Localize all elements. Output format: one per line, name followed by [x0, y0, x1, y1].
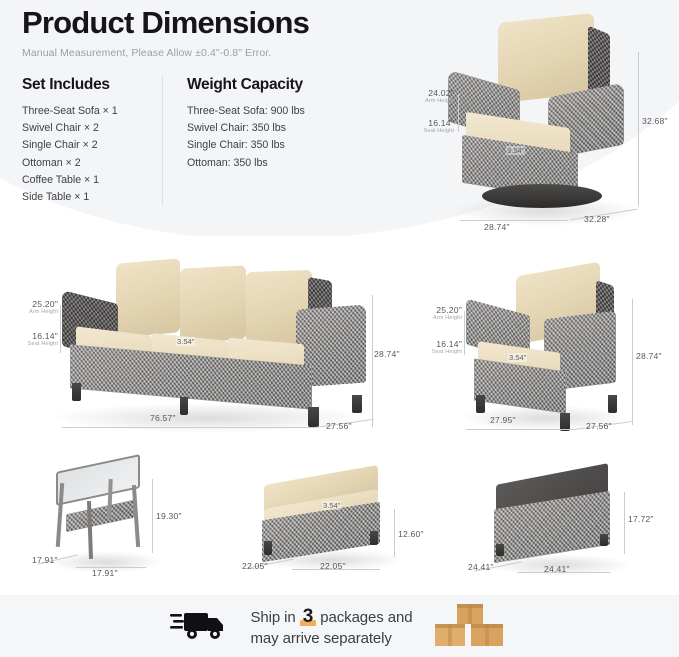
- seat-height-label: Seat Height: [398, 128, 454, 134]
- depth-value: 27.56": [326, 421, 352, 431]
- table-foot: [496, 544, 504, 556]
- arm-height-label: Arm Height: [398, 98, 454, 104]
- overall-height-value: 32.68": [642, 116, 668, 126]
- ship-line1-after: packages and: [320, 609, 412, 626]
- arm-height-value: 24.02": [398, 88, 454, 98]
- seat-height-label: Seat Height: [406, 349, 462, 355]
- seat-height-value: 16.14": [2, 331, 58, 341]
- depth-value: 22.05": [242, 561, 268, 571]
- depth-value: 24.41": [468, 562, 494, 572]
- seat-height-group: 16.14" Seat Height: [406, 339, 462, 355]
- ottoman-leg: [370, 531, 378, 545]
- weight-capacity-item: Single Chair: 350 lbs: [187, 137, 305, 154]
- single-chair-figure: 3.54" 25.20" Arm Height 16.14" Seat Heig…: [420, 255, 679, 441]
- dimension-line: [152, 479, 153, 553]
- lower-shelf: [66, 500, 134, 532]
- table-foot: [600, 534, 608, 546]
- sofa-leg: [72, 383, 81, 401]
- cushion-thickness-label: 3.54": [176, 337, 195, 346]
- overall-height-value: 28.74": [636, 351, 662, 361]
- set-includes-item: Swivel Chair × 2: [22, 120, 162, 137]
- depth-value: 27.56": [586, 421, 612, 431]
- dimension-line: [624, 492, 625, 554]
- seat-height-value: 16.14": [406, 339, 462, 349]
- set-includes-item: Side Table × 1: [22, 189, 162, 206]
- ottoman-figure: 3.54" 12.60" 22.05" 22.05": [238, 465, 448, 585]
- set-includes-item: Ottoman × 2: [22, 155, 162, 172]
- ship-line2: may arrive separately: [250, 629, 412, 649]
- dimension-line: [62, 427, 314, 428]
- dimension-line: [632, 299, 633, 425]
- arm-height-group: 25.20" Arm Height: [2, 299, 58, 315]
- width-value: 22.05": [320, 561, 346, 571]
- width-value: 28.74": [484, 222, 510, 232]
- set-includes-heading: Set Includes: [22, 76, 162, 94]
- delivery-truck-icon: [170, 605, 232, 648]
- swivel-base-disc: [482, 184, 602, 208]
- height-value: 12.60": [398, 529, 424, 539]
- arm-height-group: 24.02" Arm Height: [398, 88, 454, 104]
- swivel-chair-figure: 3.54" 24.02" Arm Height 16.14" Seat Heig…: [420, 8, 679, 236]
- dimension-line: [60, 305, 61, 353]
- weight-capacity-item: Swivel Chair: 350 lbs: [187, 120, 305, 137]
- chair-leg: [608, 395, 617, 413]
- sofa-leg: [308, 407, 319, 427]
- depth-value: 17.91": [32, 555, 58, 565]
- weight-capacity-item: Three-Seat Sofa: 900 lbs: [187, 103, 305, 120]
- width-value: 76.57": [150, 413, 176, 423]
- depth-value: 32.28": [584, 214, 610, 224]
- glass-tabletop: [56, 454, 140, 506]
- dimension-line: [372, 295, 373, 427]
- ship-line1-before: Ship in: [250, 609, 295, 626]
- seat-height-value: 16.14": [398, 118, 454, 128]
- shipping-text: Ship in 3 packages and may arrive separa…: [250, 604, 412, 649]
- dimension-line: [466, 429, 574, 430]
- side-table-figure: 19.30" 17.91" 17.91": [30, 455, 230, 585]
- width-value: 17.91": [92, 568, 118, 578]
- arm-height-label: Arm Height: [406, 315, 462, 321]
- seat-height-label: Seat Height: [2, 341, 58, 347]
- set-includes-item: Coffee Table × 1: [22, 172, 162, 189]
- figure-shadow: [48, 403, 368, 433]
- width-value: 24.41": [544, 564, 570, 574]
- sofa-figure: 3.54" 25.20" Arm Height 16.14" Seat Heig…: [8, 255, 404, 441]
- width-value: 27.95": [490, 415, 516, 425]
- packages-boxes-icon: [431, 600, 509, 653]
- overall-height-value: 28.74": [374, 349, 400, 359]
- arm-height-value: 25.20": [2, 299, 58, 309]
- arm-height-group: 25.20" Arm Height: [406, 305, 462, 321]
- seat-height-group: 16.14" Seat Height: [398, 118, 454, 134]
- height-value: 19.30": [156, 511, 182, 521]
- weight-capacity-heading: Weight Capacity: [187, 76, 305, 94]
- weight-capacity-item: Ottoman: 350 lbs: [187, 155, 305, 172]
- dimension-line: [460, 220, 568, 221]
- dimension-line: [458, 94, 459, 132]
- arm-height-value: 25.20": [406, 305, 462, 315]
- ottoman-leg: [264, 541, 272, 555]
- back-cushion: [180, 265, 246, 342]
- table-leg: [132, 485, 140, 547]
- package-count: 3: [300, 606, 316, 627]
- dimension-line: [638, 52, 639, 206]
- dimension-line: [464, 311, 465, 355]
- set-includes-item: Three-Seat Sofa × 1: [22, 103, 162, 120]
- weight-capacity-column: Weight Capacity Three-Seat Sofa: 900 lbs…: [162, 76, 305, 206]
- cushion-thickness-label: 3.54": [506, 146, 525, 155]
- set-includes-column: Set Includes Three-Seat Sofa × 1 Swivel …: [22, 76, 162, 206]
- arm-height-label: Arm Height: [2, 309, 58, 315]
- cushion-thickness-label: 3.54": [322, 501, 341, 510]
- height-value: 17.72": [628, 514, 654, 524]
- coffee-table-figure: 17.72" 24.41" 24.41": [466, 462, 676, 587]
- cushion-thickness-label: 3.54": [508, 353, 527, 362]
- dimension-line: [394, 509, 395, 557]
- set-includes-item: Single Chair × 2: [22, 137, 162, 154]
- back-cushion: [116, 258, 180, 338]
- sofa-leg: [352, 395, 362, 413]
- sofa-leg: [180, 397, 188, 415]
- shipping-banner: Ship in 3 packages and may arrive separa…: [0, 595, 679, 657]
- seat-height-group: 16.14" Seat Height: [2, 331, 58, 347]
- chair-leg: [476, 395, 485, 413]
